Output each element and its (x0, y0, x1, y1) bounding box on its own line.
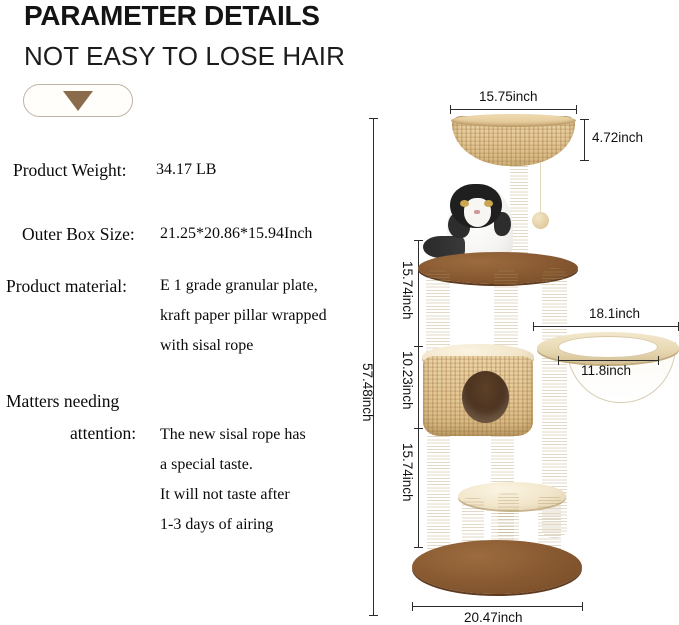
product-weight-label: Product Weight: (13, 160, 126, 181)
top-basket-rim (451, 114, 576, 127)
outer-box-size-label: Outer Box Size: (22, 224, 135, 245)
attention-line-1: The new sisal rope has (160, 426, 306, 444)
product-material-line-2: kraft paper pillar wrapped (160, 307, 327, 325)
top-basket-height-label: 4.72inch (592, 130, 643, 145)
section-tick-3 (414, 428, 423, 429)
top-basket-width-tick-right (576, 105, 577, 114)
hammock-inner-tick-right (658, 356, 659, 365)
attention-label-line-2: attention: (70, 423, 136, 444)
hammock-ring-inner (558, 336, 658, 358)
total-height-tick-bottom (369, 615, 378, 616)
attention-line-2: a special taste. (160, 456, 253, 474)
top-basket-width-label: 15.75inch (479, 89, 538, 104)
hammock-inner-tick-left (558, 356, 559, 365)
product-material-label: Product material: (6, 276, 127, 297)
product-material-line-3: with sisal rope (160, 337, 253, 355)
ball-string (540, 162, 541, 215)
base-width-line (412, 606, 582, 607)
attention-line-4: 1-3 days of airing (160, 516, 273, 534)
top-basket-height-tick-bottom (580, 160, 589, 161)
dangling-ball (532, 212, 549, 229)
collapse-toggle-pill[interactable] (23, 84, 133, 117)
page-subtitle: NOT EASY TO LOSE HAIR (24, 41, 345, 72)
total-height-tick-top (369, 118, 378, 119)
section-tick-2 (414, 346, 423, 347)
attention-label-line-1: Matters needing (6, 391, 119, 412)
total-height-label: 57.48inch (360, 363, 375, 422)
condo-entrance-hole (462, 371, 509, 423)
section-dimension-line (418, 240, 419, 547)
hammock-outer-line (533, 326, 679, 327)
hammock-inner-label: 11.8inch (581, 363, 631, 378)
upper-section-label: 15.74inch (400, 261, 415, 320)
attention-line-3: It will not taste after (160, 486, 290, 504)
cat-eye-left (460, 200, 469, 207)
base-width-tick-left (412, 602, 413, 611)
cat-eye-right (484, 200, 493, 207)
section-tick-1 (414, 240, 423, 241)
top-basket-width-tick-left (450, 105, 451, 114)
hammock-outer-tick-left (533, 322, 534, 331)
top-basket-width-line (450, 109, 576, 110)
base-width-label: 20.47inch (464, 610, 523, 625)
product-weight-value: 34.17 LB (156, 161, 216, 179)
top-basket-height-tick-top (580, 119, 589, 120)
base-width-tick-right (582, 602, 583, 611)
lower-section-label: 15.74inch (400, 443, 415, 502)
condo-section-label: 10.23inch (400, 351, 415, 410)
triangle-down-icon (63, 91, 93, 111)
top-basket-height-line (584, 119, 585, 160)
sisal-post-lower-left (427, 432, 450, 562)
section-tick-4 (414, 547, 423, 548)
cat-nose (474, 210, 480, 214)
page-title: PARAMETER DETAILS (24, 0, 320, 32)
hammock-inner-line (558, 360, 659, 361)
hammock-outer-label: 18.1inch (589, 306, 640, 321)
outer-box-size-value: 21.25*20.86*15.94Inch (160, 225, 312, 243)
wood-base (412, 540, 582, 594)
product-material-line-1: E 1 grade granular plate, (160, 277, 318, 295)
product-illustration: 57.48inch 15.74inch 10.23inch 15.74inch … (390, 88, 679, 624)
